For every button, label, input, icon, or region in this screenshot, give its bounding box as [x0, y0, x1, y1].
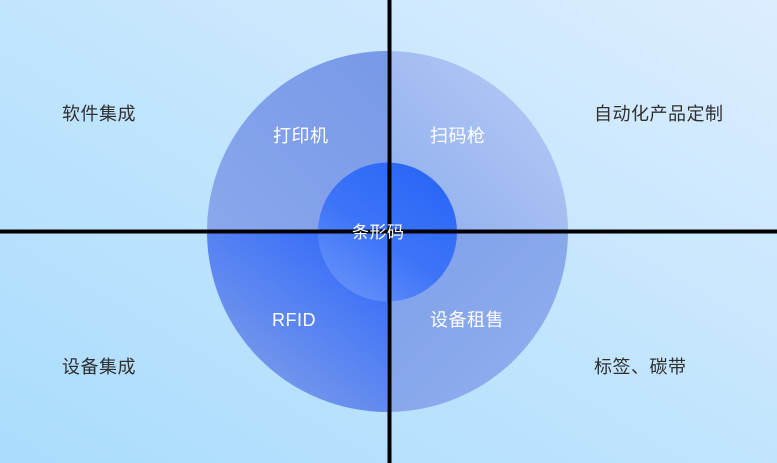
outer-label-ne: 自动化产品定制	[594, 103, 724, 125]
diagram-canvas: 软件集成 自动化产品定制 设备集成 标签、碳带 打印机 扫码枪 RFID 设备租…	[0, 0, 777, 463]
ring-label-printer: 打印机	[273, 125, 329, 147]
outer-label-se: 标签、碳带	[594, 356, 687, 378]
outer-label-sw: 设备集成	[62, 356, 136, 378]
ring-label-equipment-rental: 设备租售	[430, 309, 504, 331]
ring-label-rfid: RFID	[272, 309, 316, 331]
outer-label-nw: 软件集成	[62, 103, 136, 125]
ring-label-scanner: 扫码枪	[430, 125, 486, 147]
core-label-barcode: 条形码	[352, 222, 405, 244]
